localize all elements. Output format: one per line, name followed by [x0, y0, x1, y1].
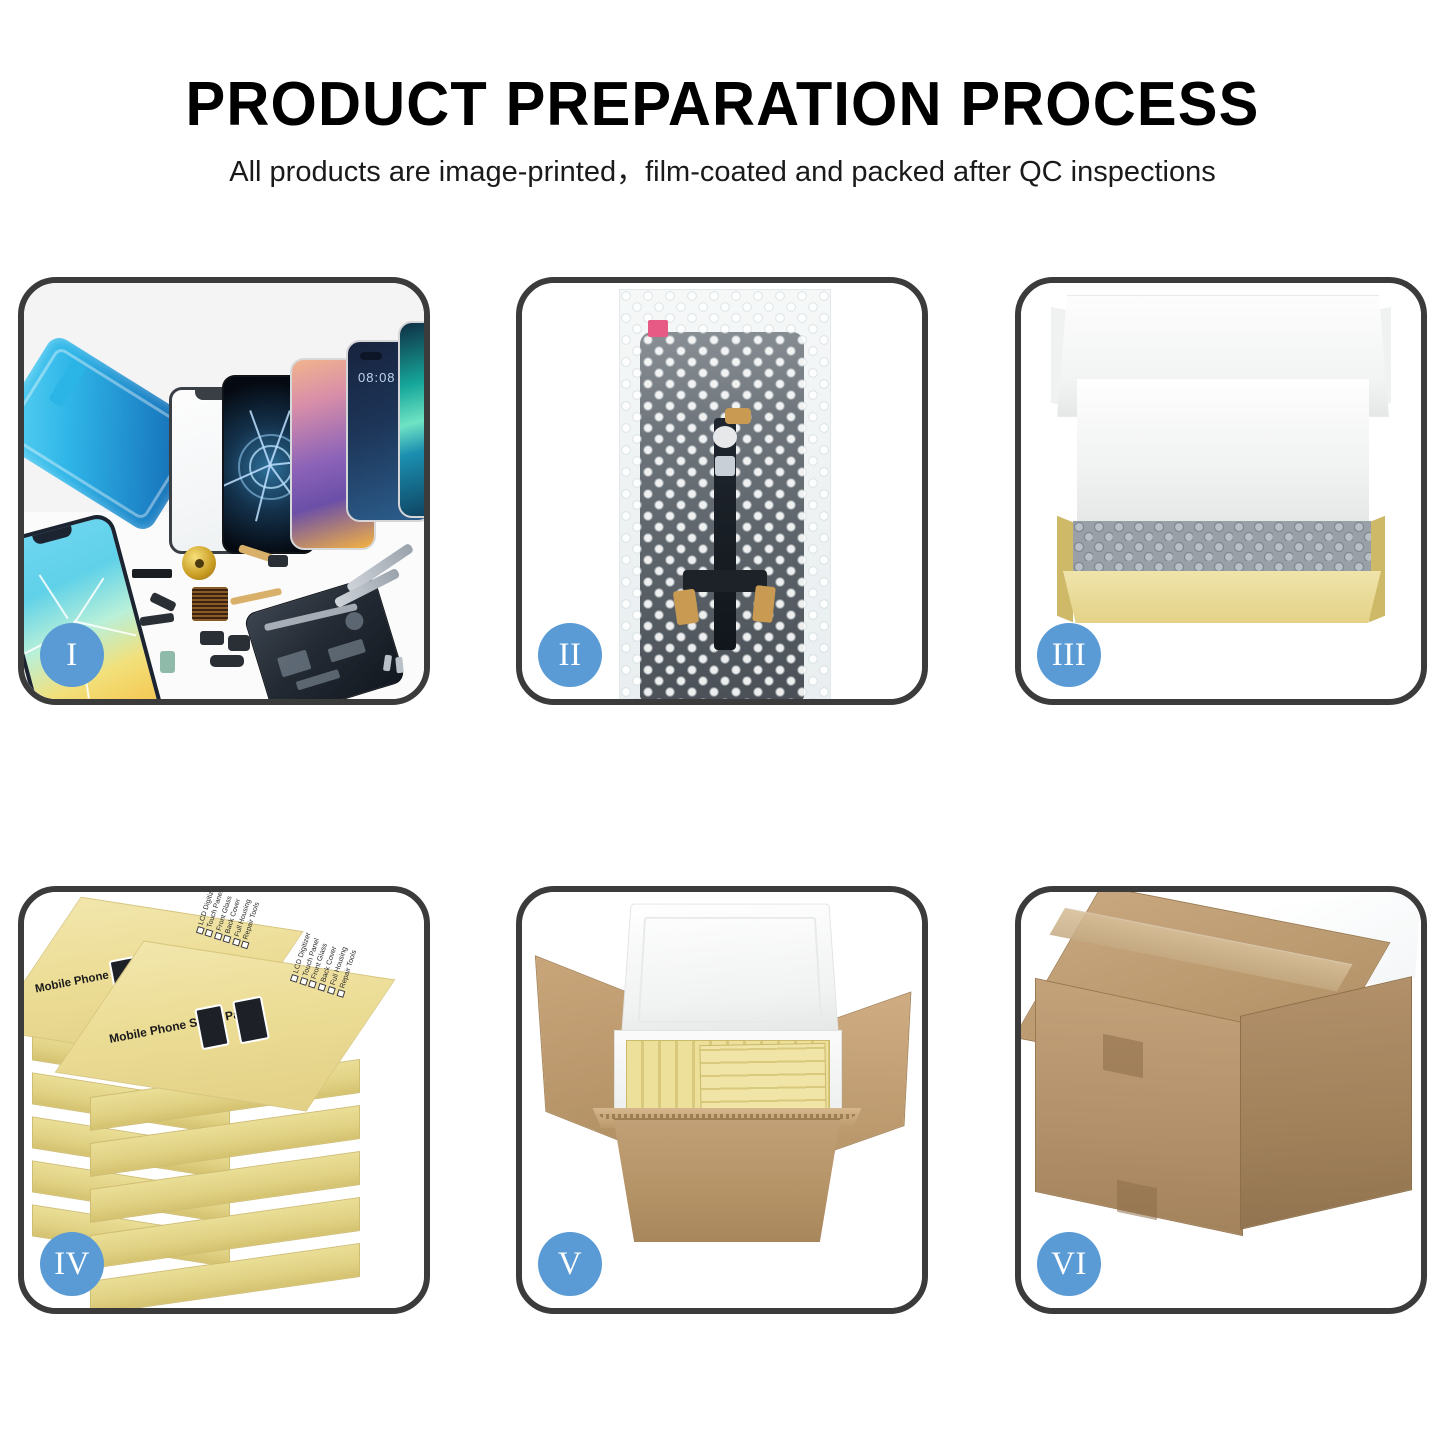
step-3-image: III — [1021, 283, 1421, 699]
gold-connector — [725, 408, 751, 424]
process-step-panel-3[interactable]: III — [1015, 277, 1427, 705]
white-foam-sheet — [1077, 379, 1369, 527]
housing-chip — [328, 639, 367, 663]
earpiece-part — [210, 655, 244, 667]
step-badge-1: I — [40, 623, 104, 687]
bubble-wrap-bag — [619, 289, 831, 699]
process-step-panel-6[interactable]: VI — [1015, 886, 1427, 1314]
step-badge-2: II — [538, 623, 602, 687]
step-1-image: 08:08 — [24, 283, 424, 699]
vibration-motor-part — [182, 546, 216, 580]
step-badge-4: IV — [40, 1232, 104, 1296]
process-step-panel-4[interactable]: Mobile Phone Spare Parts LCD Digitizer T… — [18, 886, 430, 1314]
printed-retail-box-top-right: Mobile Phone Spare Parts LCD Digitizer T… — [86, 960, 362, 1090]
housing-chip — [295, 669, 340, 690]
speaker-bar-part — [132, 569, 172, 578]
process-step-panel-5[interactable]: V — [516, 886, 928, 1314]
foam-cooler-lid — [621, 904, 839, 1039]
ic-round — [713, 426, 737, 448]
pink-qc-label — [648, 320, 668, 337]
camera-module-part — [200, 631, 224, 645]
display-camera-pill — [360, 352, 382, 360]
gold-connector — [753, 585, 777, 623]
yellow-tray-front — [1063, 571, 1381, 623]
process-step-panel-1[interactable]: 08:08 — [18, 277, 430, 705]
display-clock-text: 08:08 — [358, 370, 396, 385]
housing-chip — [277, 649, 312, 677]
crack-line — [72, 577, 105, 627]
lower-flex-board — [683, 570, 767, 592]
step-5-image: V — [522, 892, 922, 1308]
tray-edge-left — [1057, 516, 1073, 622]
step-6-image: VI — [1021, 892, 1421, 1308]
teal-wave-display — [398, 321, 424, 518]
display-flex-cable — [714, 418, 736, 650]
camera-module-part — [228, 635, 250, 651]
bubble-wrapped-contents — [1073, 521, 1371, 573]
crack-line — [39, 574, 69, 619]
step-badge-5: V — [538, 1232, 602, 1296]
mesh-grille-part — [192, 587, 228, 621]
carton-front-face — [598, 1118, 856, 1242]
step-2-image: II — [522, 283, 922, 699]
housing-strip — [264, 603, 358, 631]
step-badge-3: III — [1037, 623, 1101, 687]
ic-chip — [715, 456, 735, 476]
process-step-grid: 08:08 — [0, 0, 1445, 1445]
yellow-boxes-row — [699, 1043, 826, 1115]
gold-connector — [672, 589, 699, 626]
connector-part — [268, 555, 288, 567]
sim-tray-part — [160, 651, 175, 673]
process-step-panel-2[interactable]: II — [516, 277, 928, 705]
carton-right-face — [1240, 976, 1412, 1230]
housing-camera — [343, 610, 365, 632]
step-4-image: Mobile Phone Spare Parts LCD Digitizer T… — [24, 892, 424, 1308]
step-badge-6: VI — [1037, 1232, 1101, 1296]
